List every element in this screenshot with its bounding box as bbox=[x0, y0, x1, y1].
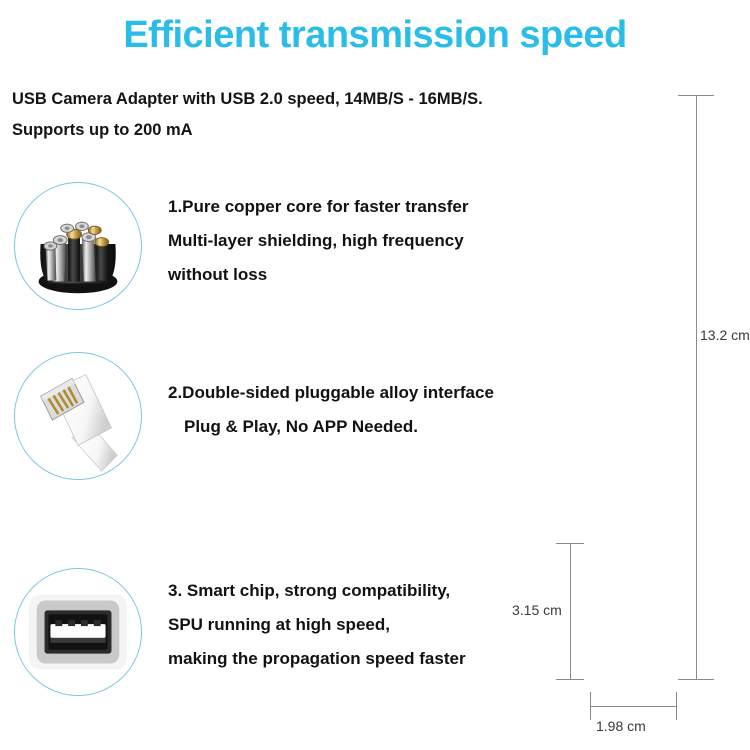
product-infographic: Efficient transmission speed USB Camera … bbox=[0, 0, 750, 750]
feature-1-icon-badge bbox=[14, 182, 142, 310]
height-dimension-cap-top bbox=[556, 543, 584, 544]
cable-copper-core-icon bbox=[15, 183, 141, 309]
feature-3-line-1: 3. Smart chip, strong compatibility, bbox=[168, 574, 568, 608]
height-dimension-cap-bottom bbox=[556, 679, 584, 680]
feature-2-line-1: 2.Double-sided pluggable alloy interface bbox=[168, 376, 568, 410]
width-dimension-label: 1.98 cm bbox=[596, 718, 646, 734]
feature-3-icon-badge bbox=[14, 568, 142, 696]
length-dimension-cap-bottom bbox=[678, 679, 714, 680]
width-dimension-line bbox=[590, 706, 676, 707]
summary-line-2: Supports up to 200 mA bbox=[12, 115, 572, 146]
product-image bbox=[560, 0, 750, 750]
feature-3-line-3: making the propagation speed faster bbox=[168, 642, 568, 676]
length-dimension-label: 13.2 cm bbox=[700, 327, 750, 343]
height-dimension-label: 3.15 cm bbox=[512, 602, 562, 618]
feature-3-text: 3. Smart chip, strong compatibility, SPU… bbox=[168, 574, 568, 676]
feature-3-line-2: SPU running at high speed, bbox=[168, 608, 568, 642]
usb-a-port-icon bbox=[15, 569, 141, 695]
summary-line-1: USB Camera Adapter with USB 2.0 speed, 1… bbox=[12, 84, 572, 115]
feature-2-icon-badge bbox=[14, 352, 142, 480]
feature-1-line-2: Multi-layer shielding, high frequency bbox=[168, 224, 568, 258]
length-dimension-line bbox=[696, 95, 697, 679]
feature-1-line-1: 1.Pure copper core for faster transfer bbox=[168, 190, 568, 224]
width-dimension-cap-right bbox=[676, 692, 677, 720]
product-summary: USB Camera Adapter with USB 2.0 speed, 1… bbox=[12, 84, 572, 146]
feature-2-text: 2.Double-sided pluggable alloy interface… bbox=[168, 376, 568, 444]
length-dimension-cap-top bbox=[678, 95, 714, 96]
lightning-connector-icon bbox=[15, 353, 141, 479]
width-dimension-cap-left bbox=[590, 692, 591, 720]
feature-1-text: 1.Pure copper core for faster transfer M… bbox=[168, 190, 568, 292]
feature-1-line-3: without loss bbox=[168, 258, 568, 292]
height-dimension-line bbox=[570, 543, 571, 679]
feature-2-line-2: Plug & Play, No APP Needed. bbox=[168, 410, 568, 444]
